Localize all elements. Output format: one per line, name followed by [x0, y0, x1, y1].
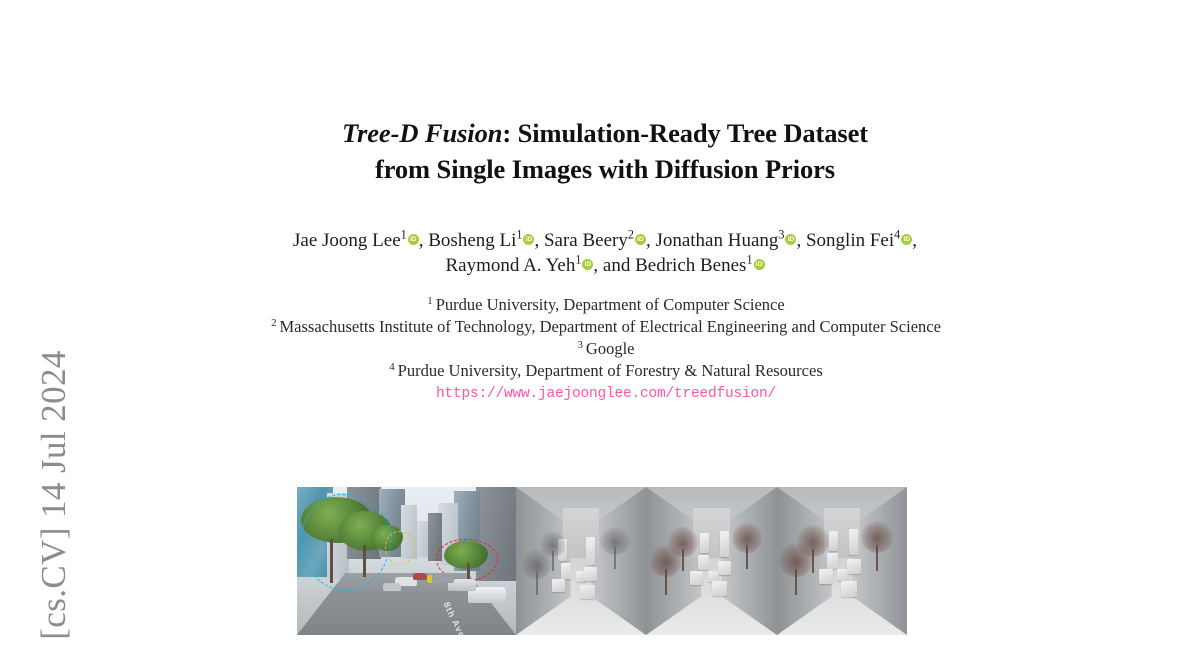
- affiliation-item-1: 1Purdue University, Department of Comput…: [250, 294, 962, 316]
- author-name: Bedrich Benes: [635, 255, 746, 276]
- affiliation-marker: 1: [427, 295, 432, 307]
- render-car-box-a5: [586, 537, 595, 565]
- author-separator: ,: [646, 230, 656, 251]
- title-emphasis: Tree-D Fusion: [342, 118, 502, 148]
- render-car-box-b5: [720, 531, 729, 557]
- page-title: Tree-D Fusion: Simulation-Ready Tree Dat…: [255, 115, 955, 187]
- author-affiliation-marker: 3: [778, 228, 784, 242]
- affiliation-marker: 2: [271, 317, 276, 329]
- affiliation-text: Purdue University, Department of Compute…: [436, 295, 785, 314]
- title-rest: : Simulation-Ready Tree Dataset: [502, 118, 868, 148]
- orcid-id-icon[interactable]: [754, 259, 765, 270]
- render-tree-trunk-c1: [795, 569, 797, 595]
- render-car-box-a7: [580, 585, 595, 599]
- render-tree-trunk-c3: [876, 545, 878, 571]
- author-separator: ,: [796, 230, 806, 251]
- title-line-2: from Single Images with Diffusion Priors: [255, 151, 955, 187]
- paper-content-column: Tree-D Fusion: Simulation-Ready Tree Dat…: [255, 0, 955, 648]
- render-tree-trunk-c2: [812, 549, 814, 573]
- figure-panel-render-a: [516, 487, 646, 635]
- author-affiliation-marker: 1: [516, 228, 522, 242]
- affiliation-item-3: 3Google: [250, 338, 962, 360]
- author-list: Jae Joong Lee1, Bosheng Li1, Sara Beery2…: [255, 228, 955, 278]
- orcid-id-icon[interactable]: [635, 234, 646, 245]
- orcid-id-icon[interactable]: [408, 234, 419, 245]
- affiliation-item-2: 2Massachusetts Institute of Technology, …: [250, 316, 962, 338]
- render-car-box-c5: [849, 529, 858, 555]
- render-tree-trunk-a1: [536, 571, 538, 595]
- parked-car-3: [413, 573, 427, 580]
- parked-car-6: [432, 573, 454, 583]
- affiliation-text: Massachusetts Institute of Technology, D…: [280, 317, 941, 336]
- render-car-box-b7: [712, 581, 727, 596]
- parked-car-2: [383, 583, 401, 591]
- author-affiliation-marker: 2: [628, 228, 634, 242]
- figure-panel-render-b: [646, 487, 777, 635]
- orcid-id-icon[interactable]: [523, 234, 534, 245]
- author-name: Raymond A. Yeh: [445, 255, 575, 276]
- affiliation-text: Purdue University, Department of Forestr…: [398, 361, 823, 380]
- render-car-box-a3: [552, 579, 565, 592]
- author-separator: , and: [593, 255, 635, 276]
- affiliation-list: 1Purdue University, Department of Comput…: [250, 294, 962, 405]
- render-tree-trunk-b2: [682, 549, 684, 571]
- orcid-id-icon[interactable]: [582, 259, 593, 270]
- author-affiliation-marker: 1: [746, 253, 752, 267]
- author-name: Jae Joong Lee: [293, 230, 401, 251]
- render-car-box-b6: [718, 561, 731, 575]
- author-name: Jonathan Huang: [655, 230, 778, 251]
- author-separator: ,: [534, 230, 544, 251]
- render-car-box-c2: [827, 553, 838, 569]
- render-car-box-b3: [690, 571, 703, 585]
- render-car-box-a6: [584, 567, 597, 581]
- affiliation-marker: 4: [389, 361, 394, 373]
- author-separator: ,: [419, 230, 429, 251]
- figure-panel-street-view-photo: 8th Ave: [297, 487, 516, 635]
- figure-panel-render-c: [777, 487, 907, 635]
- affiliation-text: Google: [586, 339, 635, 358]
- render-car-box-c6: [847, 559, 861, 574]
- author-name: Sara Beery: [544, 230, 628, 251]
- render-car-box-c3: [819, 569, 833, 584]
- project-page-link[interactable]: https://www.jaejoonglee.com/treedfusion/: [250, 383, 962, 405]
- render-car-box-a2: [561, 563, 571, 579]
- render-tree-trunk-b3: [746, 545, 748, 569]
- author-affiliation-marker: 4: [894, 228, 900, 242]
- author-affiliation-marker: 1: [575, 253, 581, 267]
- render-tree-trunk-a2: [552, 551, 554, 571]
- render-car-box-b2: [698, 555, 709, 570]
- render-tree-trunk-a3: [614, 547, 616, 569]
- author-name: Songlin Fei: [806, 230, 894, 251]
- title-line-1: Tree-D Fusion: Simulation-Ready Tree Dat…: [255, 115, 955, 151]
- author-separator: ,: [912, 230, 917, 251]
- teaser-figure: 8th Ave: [297, 487, 907, 635]
- arxiv-identifier-stamp: [cs.CV] 14 Jul 2024: [28, 330, 80, 660]
- render-tree-trunk-b1: [665, 569, 667, 595]
- orcid-id-icon[interactable]: [785, 234, 796, 245]
- author-name: Bosheng Li: [428, 230, 516, 251]
- render-car-box-b1: [700, 533, 709, 553]
- render-car-box-c1: [829, 531, 838, 551]
- affiliation-marker: 3: [577, 339, 582, 351]
- render-car-box-c7: [841, 581, 857, 597]
- affiliation-item-4: 4Purdue University, Department of Forest…: [250, 360, 962, 382]
- orcid-id-icon[interactable]: [901, 234, 912, 245]
- author-affiliation-marker: 1: [401, 228, 407, 242]
